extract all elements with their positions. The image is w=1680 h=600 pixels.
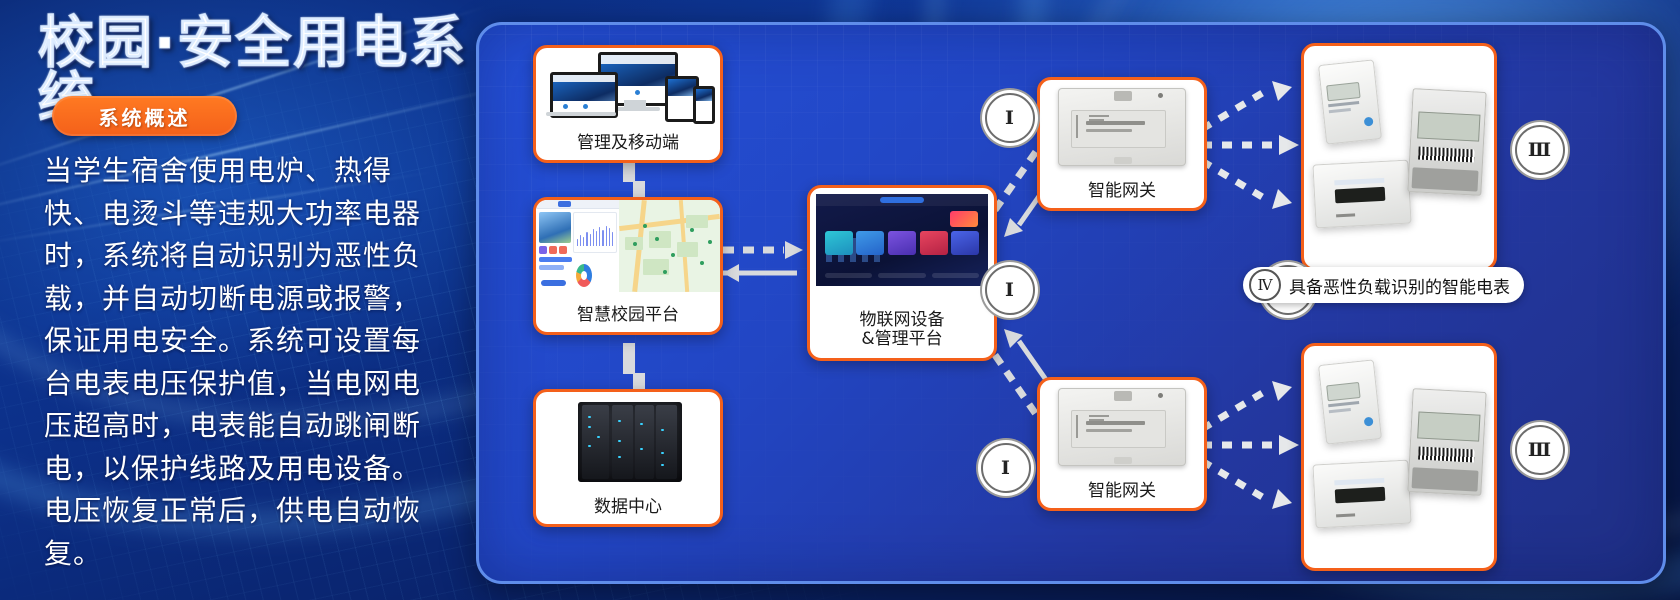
badge-meters: Ⅳ bbox=[1249, 269, 1281, 301]
campus-dashboard-map-icon bbox=[536, 200, 720, 292]
smart-gateway-device-icon-bottom bbox=[1040, 380, 1204, 472]
meter-group-top[interactable] bbox=[1301, 43, 1497, 271]
node-gateway-bottom-label: 智能网关 bbox=[1040, 482, 1204, 502]
node-smart-campus-label: 智慧校园平台 bbox=[536, 306, 720, 326]
meters-chip-label[interactable]: Ⅳ 具备恶性负载识别的智能电表 bbox=[1243, 267, 1524, 303]
din-rail-meter-small-icon-bottom bbox=[1318, 359, 1382, 444]
iot-dashboard-icon bbox=[810, 188, 994, 292]
diagram-panel: 管理及移动端 Ⅰ bbox=[476, 22, 1666, 584]
meter-group-bottom[interactable] bbox=[1301, 343, 1497, 571]
section-pill-label: 系统概述 bbox=[99, 102, 191, 131]
node-data-center[interactable]: 数据中心 bbox=[533, 389, 723, 527]
section-pill: 系统概述 bbox=[52, 96, 237, 136]
node-smart-campus[interactable]: 智慧校园平台 bbox=[533, 197, 723, 335]
node-iot-platform-label-line1: 物联网设备 bbox=[810, 311, 994, 331]
description-text: 当学生宿舍使用电炉、热得快、电烫斗等违规大功率电器时，系统将自动识别为恶性负载，… bbox=[44, 150, 436, 575]
left-info-panel: 校园·安全用电系统 系统概述 当学生宿舍使用电炉、热得快、电烫斗等违规大功率电器… bbox=[0, 0, 470, 600]
three-phase-meter-icon-top bbox=[1407, 88, 1486, 196]
node-iot-platform-label: 物联网设备 &管理平台 bbox=[810, 311, 994, 350]
din-rail-meter-wide-icon-bottom bbox=[1312, 460, 1411, 529]
node-gateway-bottom[interactable]: 智能网关 bbox=[1037, 377, 1207, 511]
node-iot-platform[interactable]: 物联网设备 &管理平台 bbox=[807, 185, 997, 361]
meters-chip-text: 具备恶性负载识别的智能电表 bbox=[1289, 273, 1510, 298]
node-gateway-top[interactable]: 智能网关 bbox=[1037, 77, 1207, 211]
badge-smart-campus: Ⅰ bbox=[985, 265, 1035, 315]
badge-gateway-top: Ⅲ bbox=[1515, 125, 1565, 175]
node-gateway-top-label: 智能网关 bbox=[1040, 182, 1204, 202]
badge-gateway-bottom: Ⅲ bbox=[1515, 425, 1565, 475]
din-rail-meter-small-icon-top bbox=[1318, 59, 1382, 144]
node-iot-platform-label-line2: &管理平台 bbox=[810, 330, 994, 350]
three-phase-meter-icon-bottom bbox=[1407, 388, 1486, 496]
node-admin-mobile[interactable]: 管理及移动端 bbox=[533, 45, 723, 163]
badge-admin-mobile: Ⅰ bbox=[985, 93, 1035, 143]
smart-gateway-device-icon-top bbox=[1040, 80, 1204, 172]
screenshot-root: 校园·安全用电系统 系统概述 当学生宿舍使用电炉、热得快、电烫斗等违规大功率电器… bbox=[0, 0, 1680, 600]
server-rack-icon bbox=[536, 392, 720, 490]
badge-data-center: Ⅰ bbox=[981, 443, 1031, 493]
node-data-center-label: 数据中心 bbox=[536, 498, 720, 518]
node-admin-mobile-label: 管理及移动端 bbox=[536, 134, 720, 154]
multi-device-screens-icon bbox=[536, 48, 720, 122]
din-rail-meter-wide-icon-top bbox=[1312, 160, 1411, 229]
